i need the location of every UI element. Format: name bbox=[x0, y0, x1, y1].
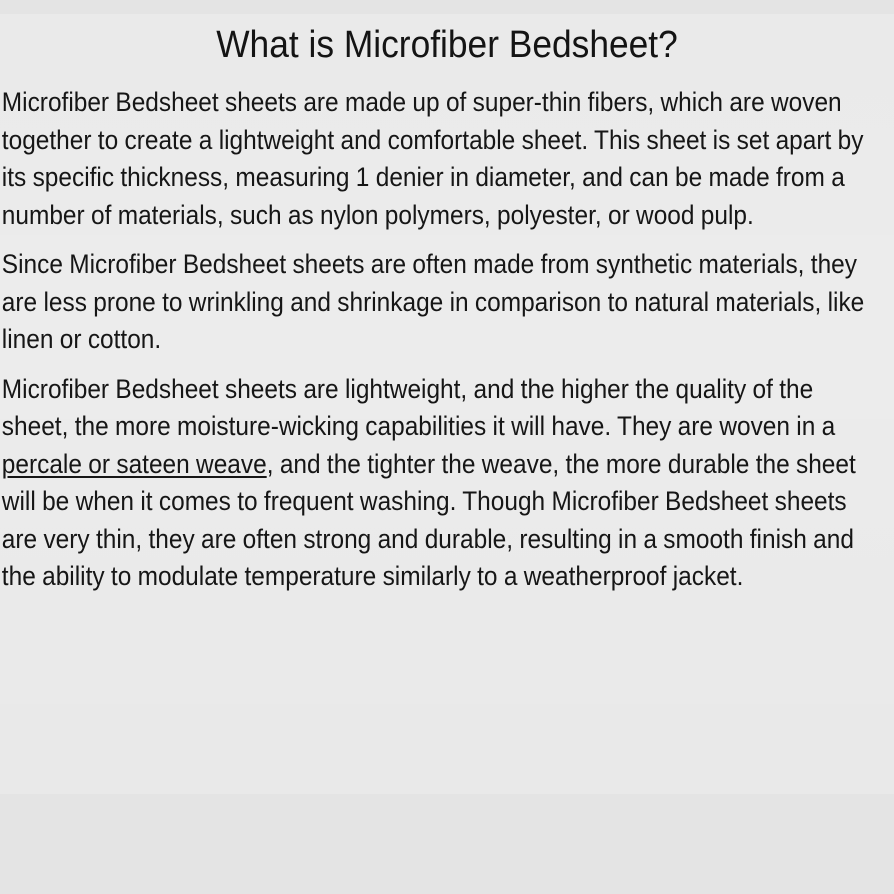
body-text-column: Microfiber Bedsheet sheets are made up o… bbox=[0, 68, 894, 596]
paragraph-text-before-link: Microfiber Bedsheet sheets are lightweig… bbox=[2, 374, 835, 442]
paragraph-text: Since Microfiber Bedsheet sheets are oft… bbox=[2, 249, 864, 354]
content-wrapper: What is Microfiber Bedsheet? Microfiber … bbox=[0, 0, 894, 596]
percale-or-sateen-weave-link[interactable]: percale or sateen weave bbox=[2, 449, 267, 479]
paragraph-definition: Microfiber Bedsheet sheets are made up o… bbox=[0, 68, 869, 246]
paragraph-synthetic-materials: Since Microfiber Bedsheet sheets are oft… bbox=[0, 246, 869, 371]
infographic-page: What is Microfiber Bedsheet? Microfiber … bbox=[0, 0, 894, 894]
paragraph-weave-and-durability: Microfiber Bedsheet sheets are lightweig… bbox=[0, 371, 869, 596]
paragraph-text: Microfiber Bedsheet sheets are made up o… bbox=[2, 87, 864, 230]
page-title: What is Microfiber Bedsheet? bbox=[31, 0, 862, 68]
